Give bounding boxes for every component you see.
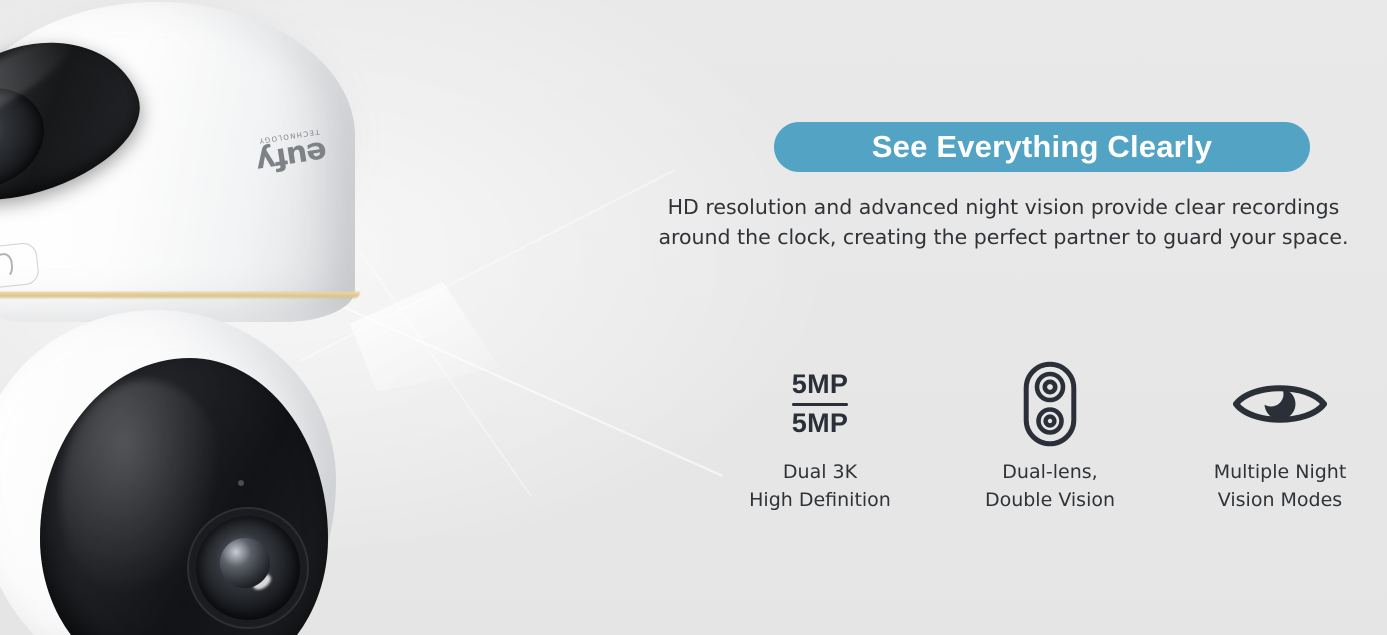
resolution-fraction-icon: 5MP 5MP — [792, 368, 848, 440]
fraction-denominator: 5MP — [792, 407, 848, 440]
feature-item-resolution: 5MP 5MP Dual 3K High Definition — [720, 358, 920, 514]
subcopy-line-2: around the clock, creating the perfect p… — [640, 222, 1367, 252]
feature-item-dual-lens: Dual-lens, Double Vision — [950, 358, 1150, 514]
product-camera-image: eufy TECHNOLOGY — [0, 0, 410, 635]
fraction-numerator: 5MP — [792, 368, 848, 401]
camera-brand-logo: eufy TECHNOLOGY — [253, 127, 329, 177]
dual-lens-icon — [1023, 361, 1077, 447]
headline-text: See Everything Clearly — [872, 129, 1212, 165]
feature-visual-dual-lens — [950, 358, 1150, 450]
feature-label-line-1: Dual-lens, — [950, 458, 1150, 486]
feature-label-line-2: Vision Modes — [1180, 486, 1380, 514]
feature-item-night-vision: Multiple Night Vision Modes — [1180, 358, 1380, 514]
feature-visual-night-vision — [1180, 358, 1380, 450]
feature-label-night-vision: Multiple Night Vision Modes — [1180, 458, 1380, 514]
camera-microphone-hole — [238, 480, 244, 486]
subcopy-paragraph: HD resolution and advanced night vision … — [640, 192, 1367, 252]
headline-pill: See Everything Clearly — [774, 122, 1310, 172]
night-vision-eye-icon — [1232, 376, 1328, 432]
subcopy-line-1: HD resolution and advanced night vision … — [640, 192, 1367, 222]
feature-visual-resolution: 5MP 5MP — [720, 358, 920, 450]
feature-label-dual-lens: Dual-lens, Double Vision — [950, 458, 1150, 514]
fraction-bar — [792, 403, 848, 406]
feature-label-line-1: Multiple Night — [1180, 458, 1380, 486]
camera-main-lens — [196, 516, 300, 620]
camera-lens-highlight — [250, 571, 273, 592]
feature-label-resolution: Dual 3K High Definition — [720, 458, 920, 514]
feature-label-line-1: Dual 3K — [720, 458, 920, 486]
product-feature-banner: eufy TECHNOLOGY See Everything Clearly H… — [0, 0, 1387, 635]
feature-list: 5MP 5MP Dual 3K High Definition — [720, 358, 1380, 514]
feature-label-line-2: Double Vision — [950, 486, 1150, 514]
content-column: See Everything Clearly HD resolution and… — [620, 0, 1387, 635]
feature-label-line-2: High Definition — [720, 486, 920, 514]
